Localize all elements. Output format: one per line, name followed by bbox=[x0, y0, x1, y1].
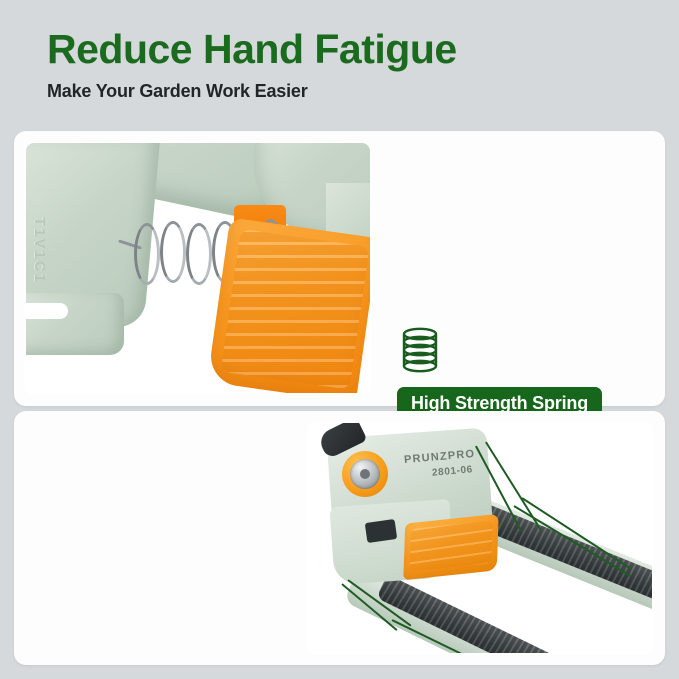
pivot-bolt-ring bbox=[342, 451, 388, 497]
coil-spring-icon bbox=[397, 327, 647, 379]
embossed-mold-code: T1V1C1 bbox=[31, 217, 48, 284]
header: Reduce Hand Fatigue Make Your Garden Wor… bbox=[47, 28, 647, 102]
pivot-bolt bbox=[350, 459, 380, 489]
pivot-bolt-center bbox=[360, 469, 370, 479]
latch-rib-texture bbox=[221, 229, 370, 390]
orange-safety-lock-slider bbox=[403, 514, 498, 580]
tool-jaw-notch bbox=[24, 303, 68, 319]
page-title: Reduce Hand Fatigue bbox=[47, 28, 647, 71]
lock-rib-texture bbox=[410, 521, 493, 572]
orange-safety-latch bbox=[207, 217, 372, 395]
infographic-page: Reduce Hand Fatigue Make Your Garden Wor… bbox=[0, 0, 679, 679]
photo-spring-closeup: T1V1C1 bbox=[24, 141, 372, 395]
photo-shears-product: PRUNZPRO 2801-06 bbox=[306, 421, 654, 655]
feature-card-spring: T1V1C1 bbox=[14, 131, 665, 406]
page-subtitle: Make Your Garden Work Easier bbox=[47, 81, 647, 102]
lock-track bbox=[365, 519, 397, 543]
feature-card-handle: Ergonomic Handle Design Comfortable and … bbox=[14, 411, 665, 665]
